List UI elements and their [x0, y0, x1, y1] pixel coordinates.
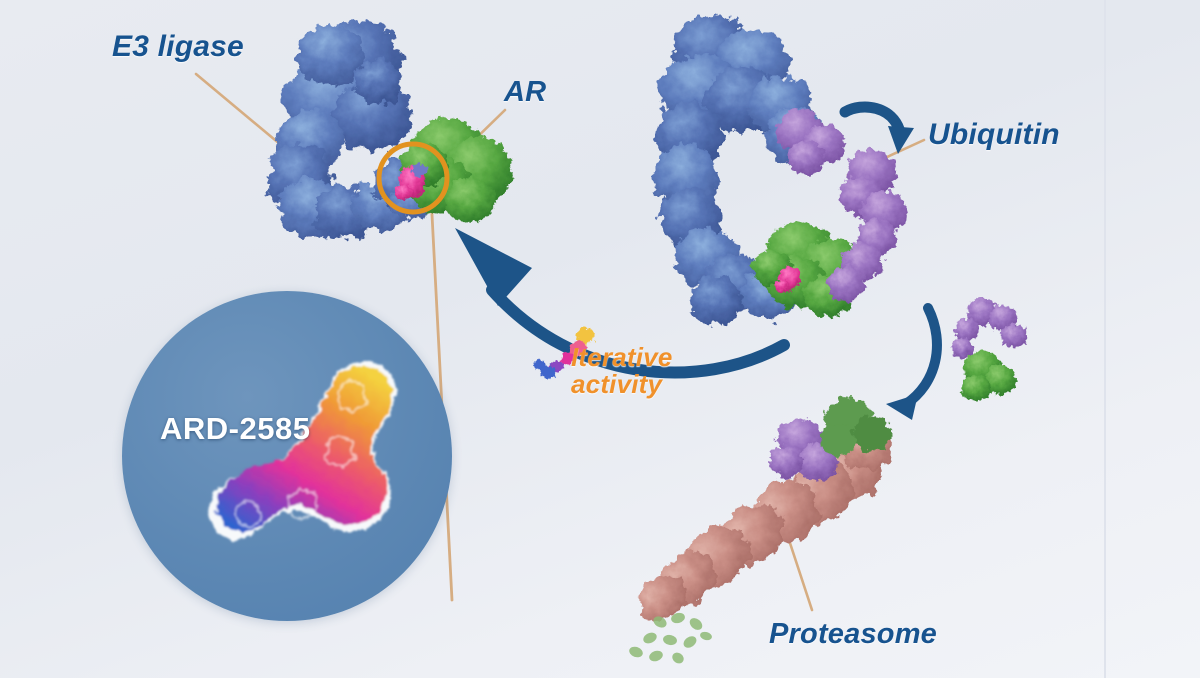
ubiquitinated-complex-middle	[654, 14, 907, 324]
peptide-fragments	[628, 611, 713, 665]
e3-ligase-molecule-left	[267, 20, 434, 238]
ternary-complex-top-left	[267, 20, 512, 238]
ubiquitin-chain-released	[951, 298, 1027, 358]
leader-line-proteasome	[789, 540, 812, 610]
protein-degradation-diagram: E3 ligase AR Ubiquitin Proteasome Iterat…	[0, 0, 1200, 678]
proteasome-molecule	[628, 398, 895, 666]
curved-arrow-down-left-icon	[886, 308, 937, 420]
released-ubiquitinated-ar	[951, 298, 1027, 401]
curved-arrow-down-icon	[845, 107, 914, 154]
ar-protein-released	[961, 351, 1016, 401]
ard-2585-inset-circle	[122, 291, 452, 621]
